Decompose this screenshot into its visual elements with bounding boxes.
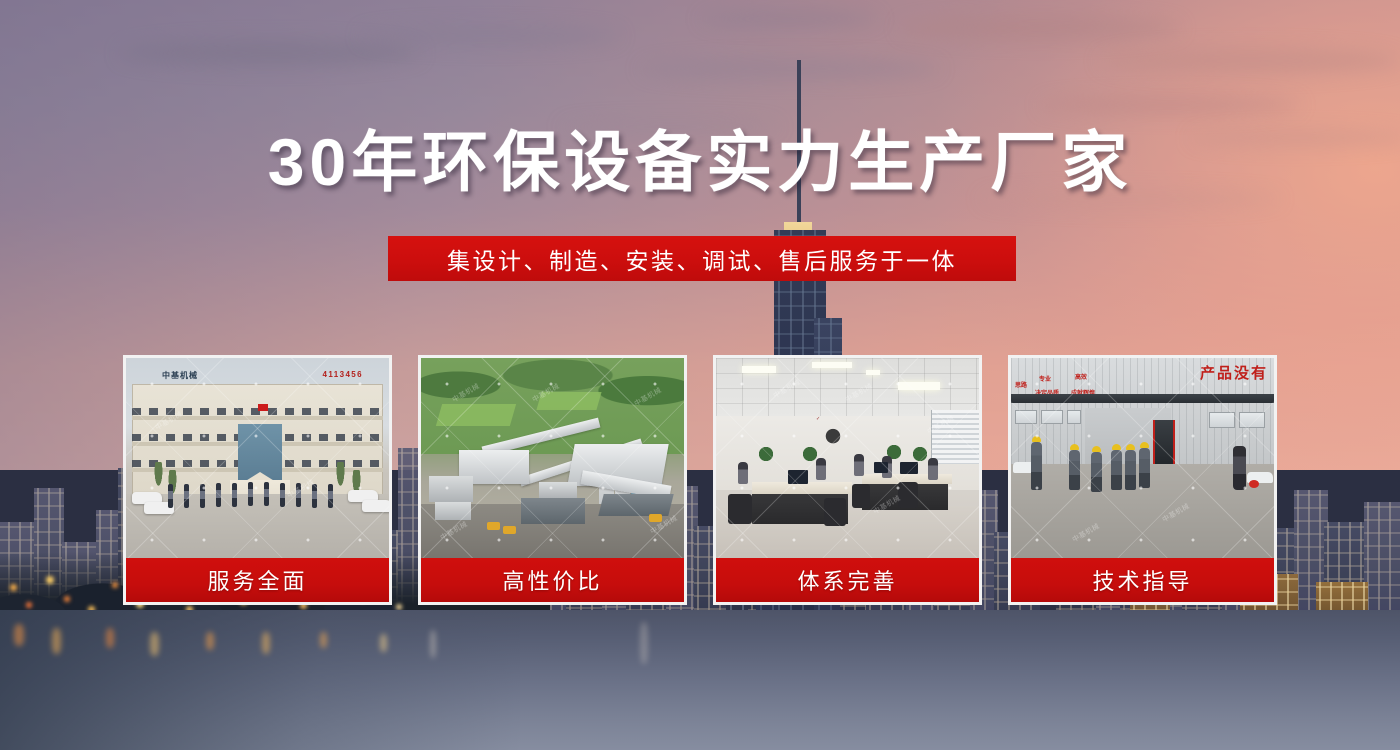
card-caption-text: 技术指导 <box>1092 564 1192 596</box>
card-caption-bar: 体系完善 <box>716 558 979 602</box>
river-shadow <box>0 610 520 750</box>
subtitle-bar: 集设计、制造、安装、调试、售后服务于一体 <box>388 236 1016 281</box>
page-title: 30年环保设备实力生产厂家 <box>0 128 1400 197</box>
building-sign-text: 中基机械 <box>162 370 198 381</box>
office-interior-staff-photo: ✓ <box>716 358 979 558</box>
promo-banner: 30年环保设备实力生产厂家 集设计、制造、安装、调试、售后服务于一体 <box>0 0 1400 750</box>
workers-training-factory-photo: 产品没有 思路 专业 决定品质 高效 成就辉煌 <box>1011 358 1274 558</box>
card-caption-bar: 高性价比 <box>421 558 684 602</box>
factory-sign-text: 产品没有 <box>1200 362 1268 383</box>
feature-card-system[interactable]: ✓ <box>713 355 982 605</box>
feature-card-row: 中基机械 4113456 <box>123 355 1277 605</box>
subtitle-text: 集设计、制造、安装、调试、售后服务于一体 <box>447 242 957 276</box>
feature-card-service[interactable]: 中基机械 4113456 <box>123 355 392 605</box>
card-caption-text: 高性价比 <box>502 564 602 596</box>
card-caption-text: 服务全面 <box>207 564 307 596</box>
card-caption-bar: 技术指导 <box>1011 558 1274 602</box>
building-phone-text: 4113456 <box>322 370 363 379</box>
feature-card-value[interactable]: 中基机械 中基机械 中基机械 中基机械 中基机械 高性价比 <box>418 355 687 605</box>
aerial-industrial-plant-photo: 中基机械 中基机械 中基机械 中基机械 中基机械 <box>421 358 684 558</box>
card-caption-text: 体系完善 <box>797 564 897 596</box>
card-caption-bar: 服务全面 <box>126 558 389 602</box>
feature-card-technical[interactable]: 产品没有 思路 专业 决定品质 高效 成就辉煌 <box>1008 355 1277 605</box>
company-office-building-staff-photo: 中基机械 4113456 <box>126 358 389 558</box>
